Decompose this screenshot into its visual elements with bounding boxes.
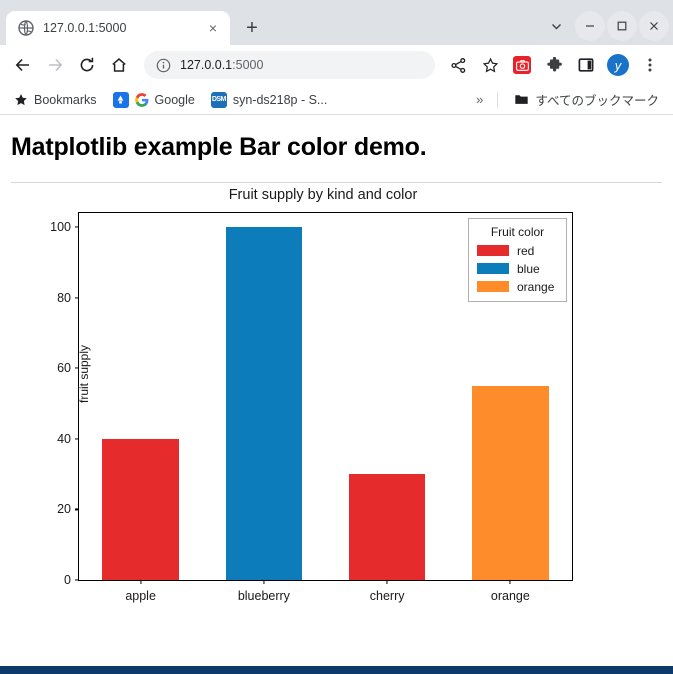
chart-title: Fruit supply by kind and color — [23, 187, 623, 203]
bookmarks-bar: Bookmarks Google DSM syn-ds218p - S... »… — [0, 85, 673, 115]
x-tick-mark — [510, 580, 511, 584]
avatar[interactable]: y — [603, 50, 633, 80]
window-edge — [0, 666, 673, 674]
legend-swatch — [477, 245, 509, 256]
y-tick-label: 40 — [33, 432, 79, 446]
y-tick-mark — [75, 227, 79, 228]
tab-strip: 127.0.0.1:5000 × + — [0, 0, 673, 45]
legend-label: orange — [517, 280, 554, 294]
y-tick-mark — [75, 579, 79, 580]
folder-icon — [514, 92, 529, 107]
three-dot-menu-icon[interactable] — [635, 50, 665, 80]
chart-bar — [102, 439, 178, 580]
y-tick-label: 100 — [33, 220, 79, 234]
legend-entry: orange — [477, 279, 558, 294]
home-icon[interactable] — [104, 50, 134, 80]
legend-title: Fruit color — [477, 225, 558, 239]
y-tick-label: 80 — [33, 291, 79, 305]
y-tick-label: 60 — [33, 361, 79, 375]
reload-icon[interactable] — [72, 50, 102, 80]
matplotlib-figure: Fruit supply by kind and color fruit sup… — [11, 183, 611, 633]
y-tick-mark — [75, 368, 79, 369]
chart-legend: Fruit color redblueorange — [468, 218, 567, 302]
bookmarks-separator — [497, 92, 498, 108]
dsm-icon: DSM — [211, 92, 227, 108]
chart-bar — [349, 474, 425, 580]
close-icon[interactable] — [639, 11, 669, 41]
bookmarks-overflow-button[interactable]: » — [472, 92, 487, 107]
chart-plot-area: fruit supply 020406080100 appleblueberry… — [78, 212, 573, 581]
star-icon — [14, 93, 28, 107]
y-axis-label: fruit supply — [77, 345, 91, 403]
info-icon[interactable] — [156, 58, 171, 73]
star-icon[interactable] — [475, 50, 505, 80]
new-tab-button[interactable]: + — [238, 14, 266, 42]
y-tick-label: 0 — [33, 573, 79, 587]
y-tick-label: 20 — [33, 502, 79, 516]
legend-entry: blue — [477, 261, 558, 276]
camera-extension-icon[interactable] — [507, 50, 537, 80]
avatar-initial: y — [607, 54, 629, 76]
minimize-icon[interactable] — [575, 11, 605, 41]
url-text: 127.0.0.1:5000 — [180, 58, 263, 72]
side-panel-icon[interactable] — [571, 50, 601, 80]
window-controls — [539, 11, 669, 41]
bookmark-item-syn-ds218p[interactable]: DSM syn-ds218p - S... — [205, 89, 334, 111]
page-content: Matplotlib example Bar color demo. Fruit… — [0, 115, 673, 666]
browser-toolbar: 127.0.0.1:5000 — [0, 45, 673, 85]
share-icon[interactable] — [443, 50, 473, 80]
x-tick-mark — [263, 580, 264, 584]
puzzle-piece-icon[interactable] — [539, 50, 569, 80]
x-tick-mark — [140, 580, 141, 584]
bookmark-label: syn-ds218p - S... — [233, 93, 328, 107]
page-title: Matplotlib example Bar color demo. — [0, 115, 673, 162]
close-icon[interactable]: × — [204, 19, 222, 37]
url-port: :5000 — [232, 58, 263, 72]
chevron-down-icon[interactable] — [539, 11, 573, 41]
legend-swatch — [477, 281, 509, 292]
legend-swatch — [477, 263, 509, 274]
y-tick-mark — [75, 438, 79, 439]
google-icon — [135, 93, 149, 107]
browser-window: 127.0.0.1:5000 × + — [0, 0, 673, 666]
chart-bar — [472, 386, 548, 580]
bookmark-label: Google — [155, 93, 195, 107]
legend-entries: redblueorange — [477, 243, 558, 294]
globe-icon — [18, 20, 34, 36]
maximize-icon[interactable] — [607, 11, 637, 41]
address-bar[interactable]: 127.0.0.1:5000 — [144, 51, 435, 79]
all-bookmarks-label: すべてのブックマーク — [535, 90, 659, 109]
back-arrow-icon[interactable] — [8, 50, 38, 80]
y-tick-mark — [75, 297, 79, 298]
bookmark-item-google[interactable]: Google — [107, 89, 201, 111]
legend-label: red — [517, 244, 534, 258]
y-tick-mark — [75, 509, 79, 510]
browser-tab[interactable]: 127.0.0.1:5000 × — [6, 11, 230, 45]
bookmark-item-bookmarks[interactable]: Bookmarks — [8, 90, 103, 110]
chart-bar — [226, 227, 302, 580]
forward-arrow-icon[interactable] — [40, 50, 70, 80]
tab-title: 127.0.0.1:5000 — [43, 21, 195, 35]
bookmark-label: Bookmarks — [34, 93, 97, 107]
legend-entry: red — [477, 243, 558, 258]
x-tick-mark — [387, 580, 388, 584]
all-bookmarks-button[interactable]: すべてのブックマーク — [508, 87, 665, 112]
legend-label: blue — [517, 262, 540, 276]
drive-icon — [113, 92, 129, 108]
url-host: 127.0.0.1 — [180, 58, 232, 72]
